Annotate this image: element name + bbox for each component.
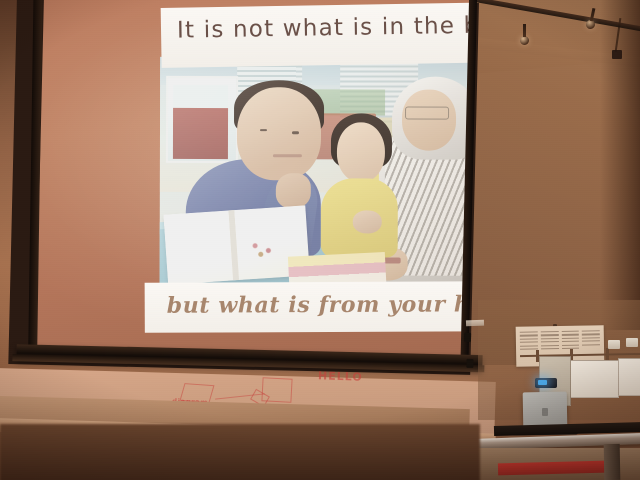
foreground-shadow <box>0 424 480 480</box>
photo-haze <box>160 57 471 290</box>
wall-outlet[interactable] <box>608 340 620 349</box>
slide-footer: but what is from your heart <box>167 291 471 319</box>
screen-clip <box>464 333 471 342</box>
slide-photo <box>160 57 471 290</box>
podium-panel <box>565 360 619 398</box>
projected-slide: It is not what is in the book but what i… <box>36 0 471 357</box>
wall-shelf <box>466 320 484 327</box>
blue-led-display <box>538 380 547 385</box>
screen-clip <box>466 359 473 368</box>
screenshot-root: It is not what is in the book but what i… <box>0 0 640 480</box>
whiteboard-hello-text: HELLO <box>318 369 363 384</box>
slide-heading-band: It is not what is in the book <box>161 3 471 68</box>
rail-post <box>606 348 609 360</box>
podium-panel <box>618 358 640 396</box>
slide-footer-band: but what is from your heart <box>145 281 471 332</box>
handrail-post <box>604 444 621 480</box>
poster-column <box>582 330 600 360</box>
projection-screen: It is not what is in the book but what i… <box>8 0 487 388</box>
cable-junction-box <box>612 50 622 59</box>
laptop-logo <box>542 408 548 416</box>
slide-heading: It is not what is in the book <box>177 12 471 44</box>
spotlight-icon <box>520 36 529 45</box>
wall-outlet[interactable] <box>626 338 638 347</box>
